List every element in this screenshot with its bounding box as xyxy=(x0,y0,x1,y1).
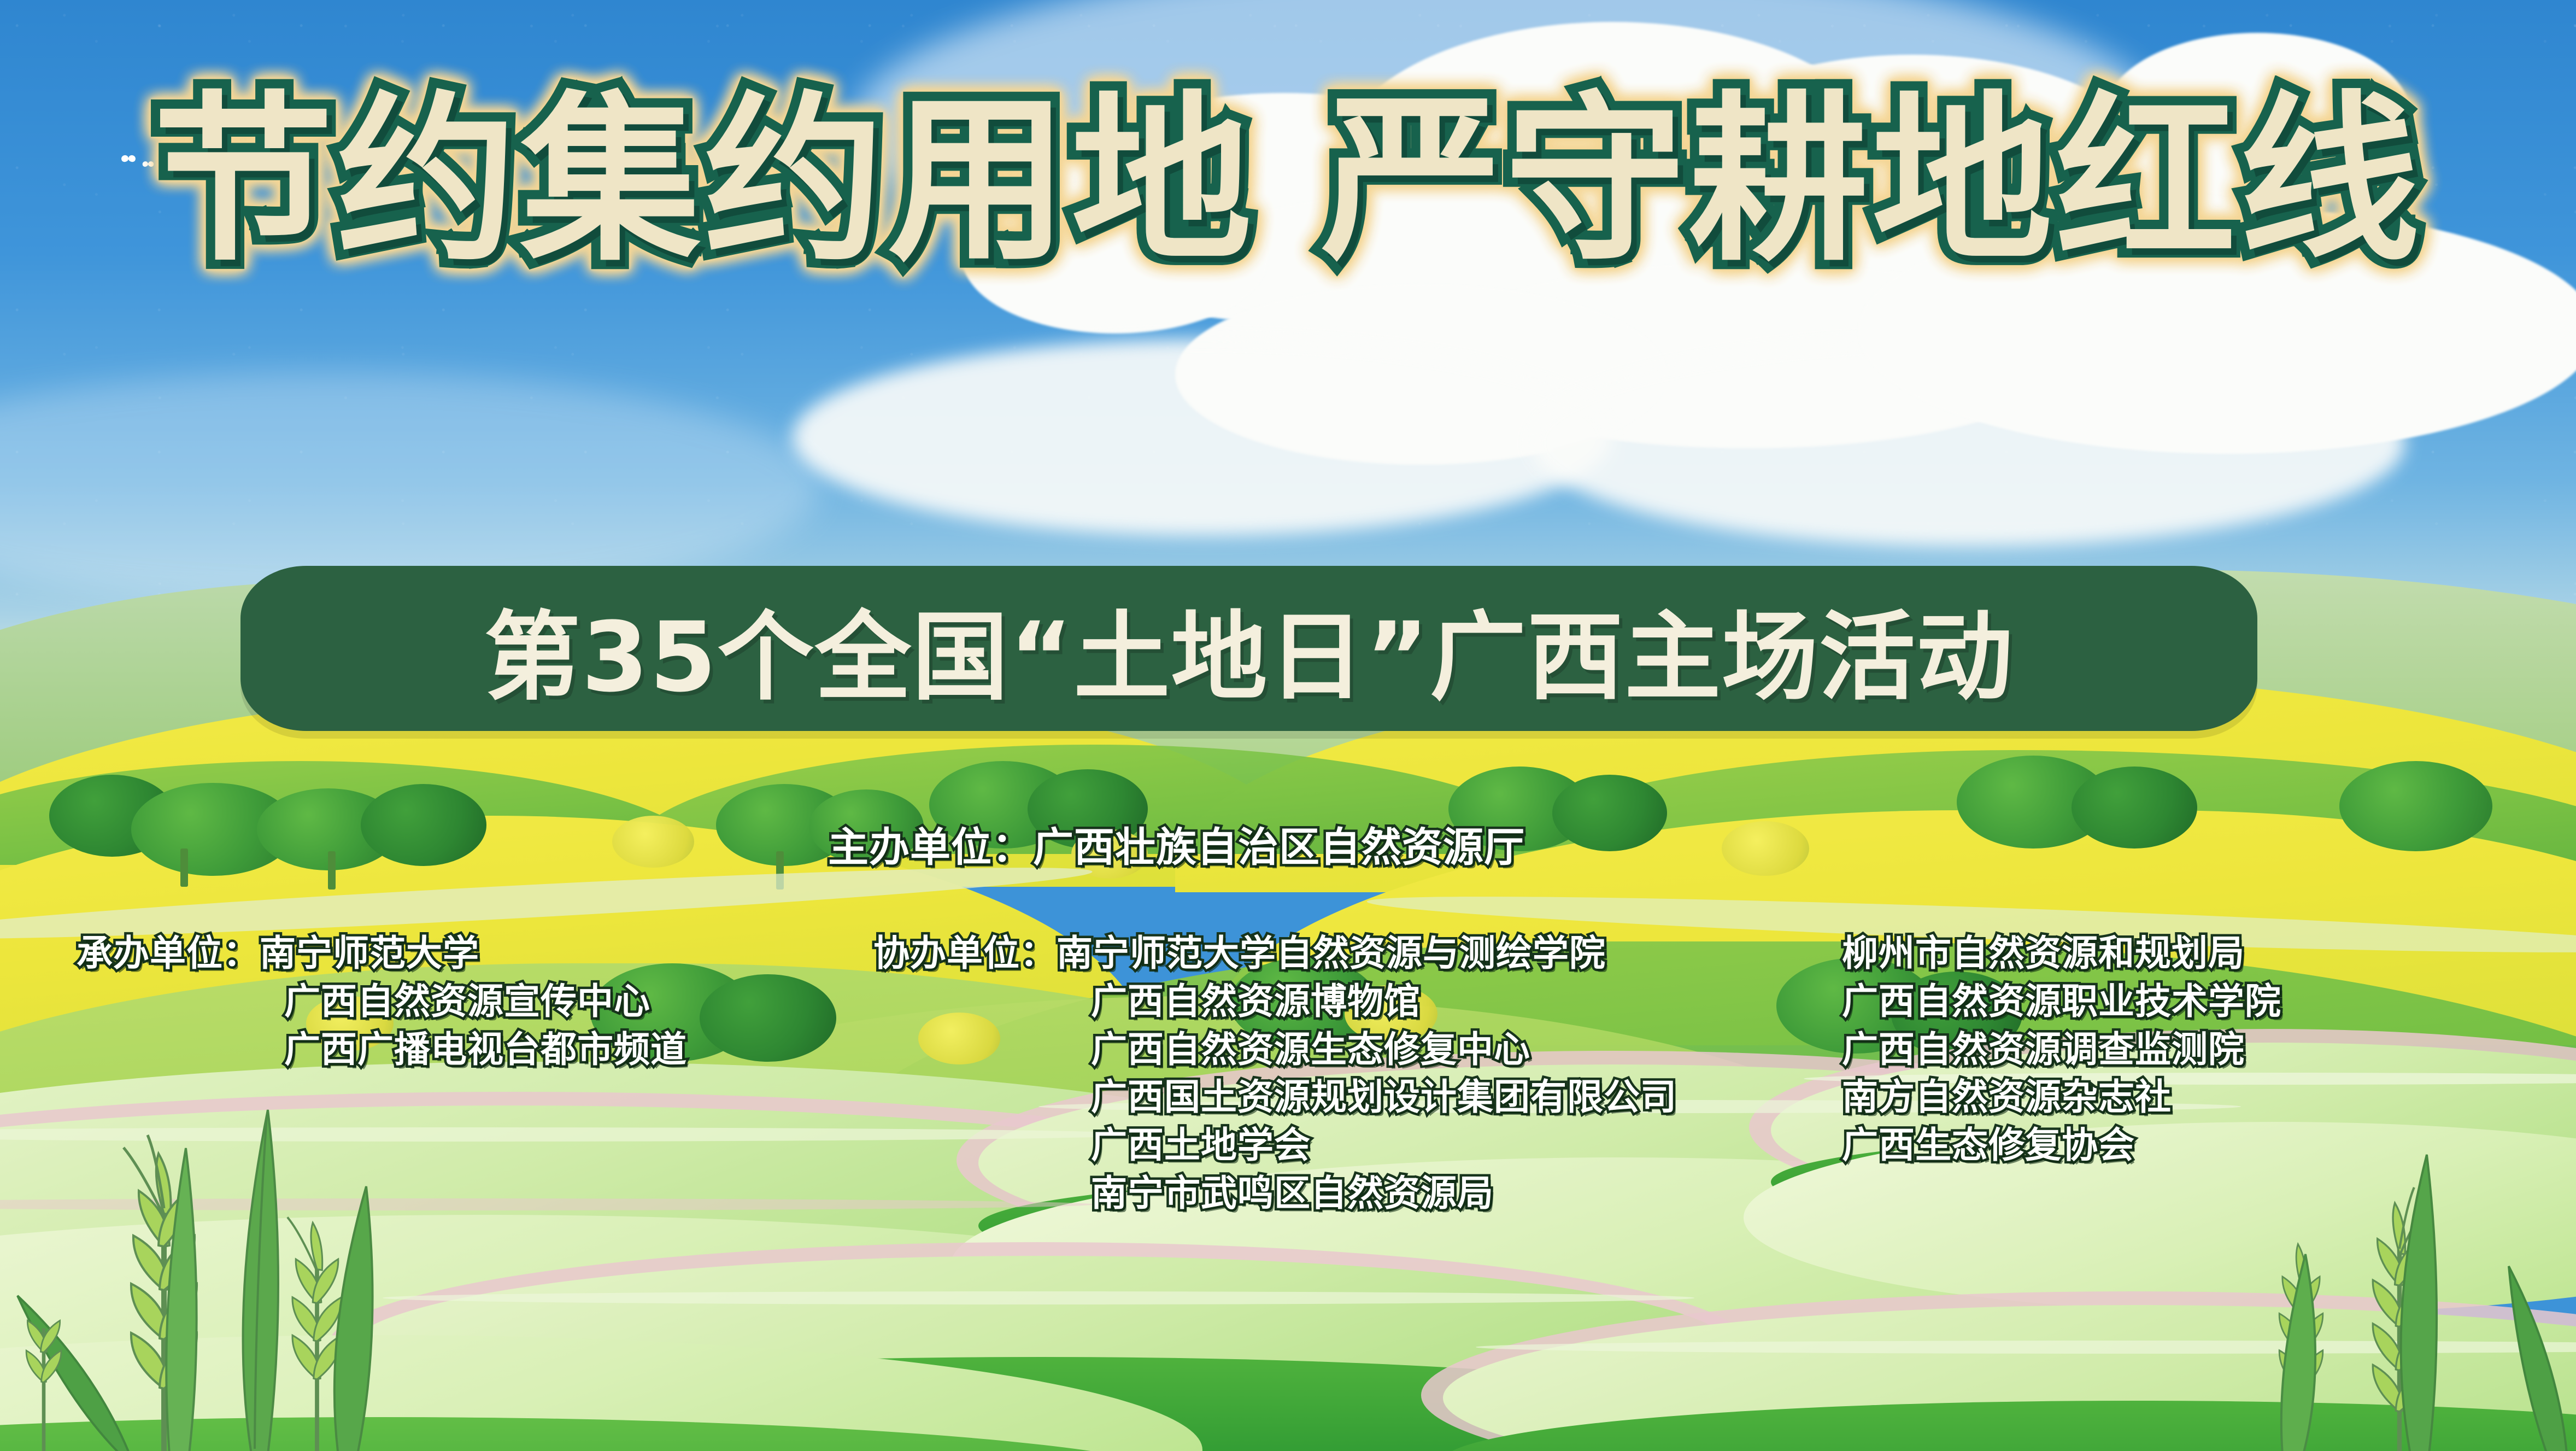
co-organizer-line: 南方自然资源杂志社 xyxy=(1842,1073,2281,1121)
organizer-line: 广西自然资源宣传中心 xyxy=(284,978,687,1026)
poster-canvas: 节约集约用地 严守耕地红线 第35个全国“土地日”广西主场活动 主办单位：广西壮… xyxy=(0,0,2576,1451)
co-organizer-line: 广西自然资源职业技术学院 xyxy=(1842,978,2281,1026)
co-organizer-line: 柳州市自然资源和规划局 xyxy=(1842,929,2281,978)
host-unit-line: 主办单位：广西壮族自治区自然资源厅 xyxy=(828,815,1525,873)
co-organizer-line: 南宁市武鸣区自然资源局 xyxy=(1091,1169,1677,1218)
co-organizer-line: 广西自然资源博物馆 xyxy=(1091,978,1677,1026)
co-organizer-line: 广西自然资源调查监测院 xyxy=(1842,1026,2281,1074)
co-organizer-line: 广西自然资源生态修复中心 xyxy=(1091,1026,1677,1074)
organizer-line: 承办单位：南宁师范大学 xyxy=(77,929,687,978)
co-organizer-line: 广西国土资源规划设计集团有限公司 xyxy=(1091,1073,1677,1121)
co-organizer-line: 广西土地学会 xyxy=(1091,1121,1677,1169)
credits-block: 主办单位：广西壮族自治区自然资源厅 承办单位：南宁师范大学 广西自然资源宣传中心… xyxy=(0,0,2576,1451)
co-organizer-column-right: 柳州市自然资源和规划局 广西自然资源职业技术学院 广西自然资源调查监测院 南方自… xyxy=(1842,929,2281,1169)
co-organizer-line: 协办单位：南宁师范大学自然资源与测绘学院 xyxy=(873,929,1677,978)
organizer-line: 广西广播电视台都市频道 xyxy=(284,1026,687,1074)
co-organizer-column: 协办单位：南宁师范大学自然资源与测绘学院 广西自然资源博物馆 广西自然资源生态修… xyxy=(873,929,1677,1218)
organizer-column: 承办单位：南宁师范大学 广西自然资源宣传中心 广西广播电视台都市频道 xyxy=(77,929,687,1073)
co-organizer-line: 广西生态修复协会 xyxy=(1842,1121,2281,1169)
